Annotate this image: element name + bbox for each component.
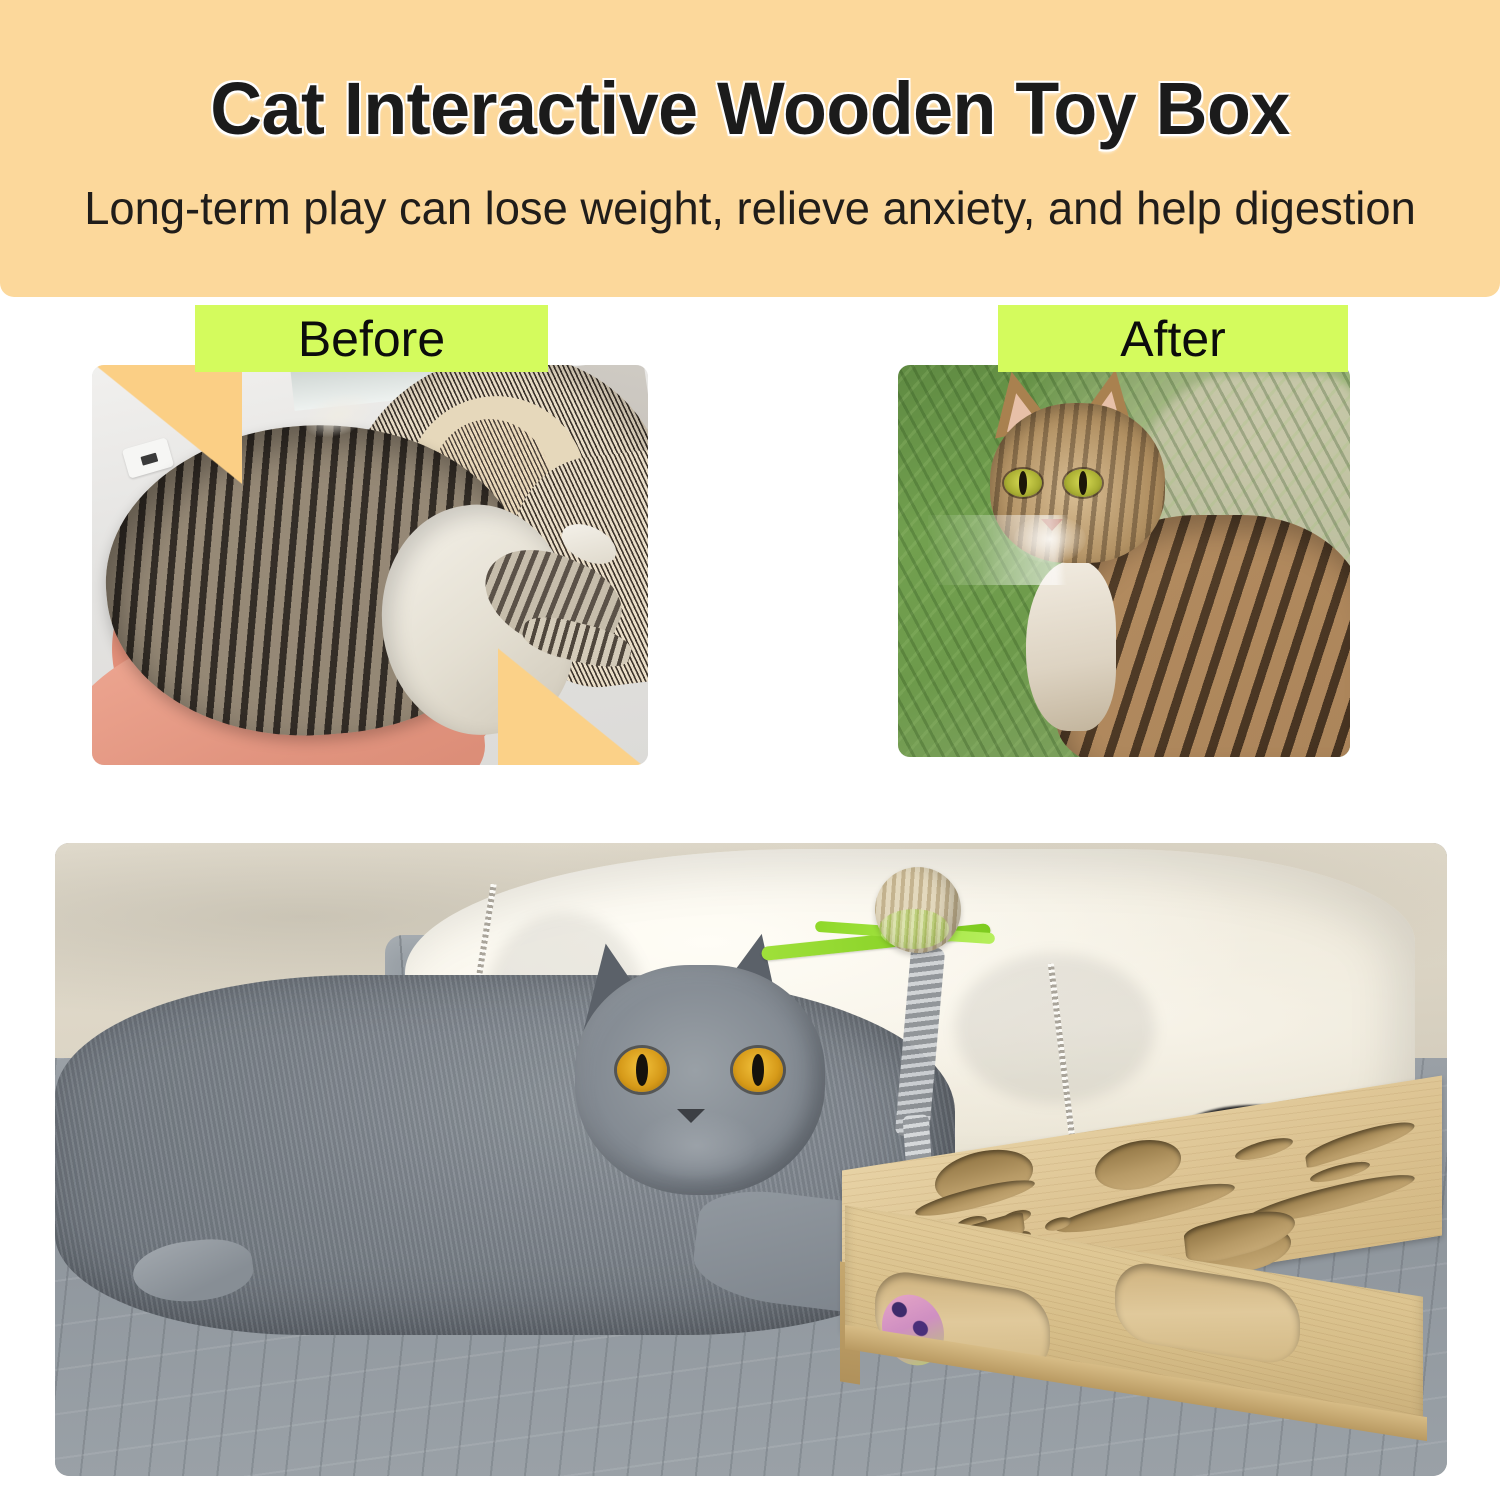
before-label: Before <box>195 305 548 372</box>
cat-eye-left <box>1004 469 1042 497</box>
cat-chest <box>1026 561 1116 731</box>
before-photo <box>92 365 648 765</box>
orange-corner-accent-topleft <box>92 365 242 495</box>
before-after-comparison: Before After <box>0 297 1500 777</box>
orange-corner-accent-bottomright <box>498 645 648 765</box>
gray-cat-eye-right <box>733 1048 783 1092</box>
header-banner: Cat Interactive Wooden Toy Box Long-term… <box>0 0 1500 297</box>
after-photo <box>898 365 1350 757</box>
gray-cat-eye-left <box>617 1048 667 1092</box>
gray-cat-nose <box>677 1109 705 1123</box>
main-product-photo <box>55 843 1447 1476</box>
cat-whiskers <box>928 515 1188 585</box>
sisal-rope-ball <box>875 867 961 953</box>
after-label: After <box>998 305 1348 372</box>
page-subtitle: Long-term play can lose weight, relieve … <box>11 183 1489 234</box>
page-title: Cat Interactive Wooden Toy Box <box>23 72 1478 146</box>
cat-eye-right <box>1064 469 1102 497</box>
